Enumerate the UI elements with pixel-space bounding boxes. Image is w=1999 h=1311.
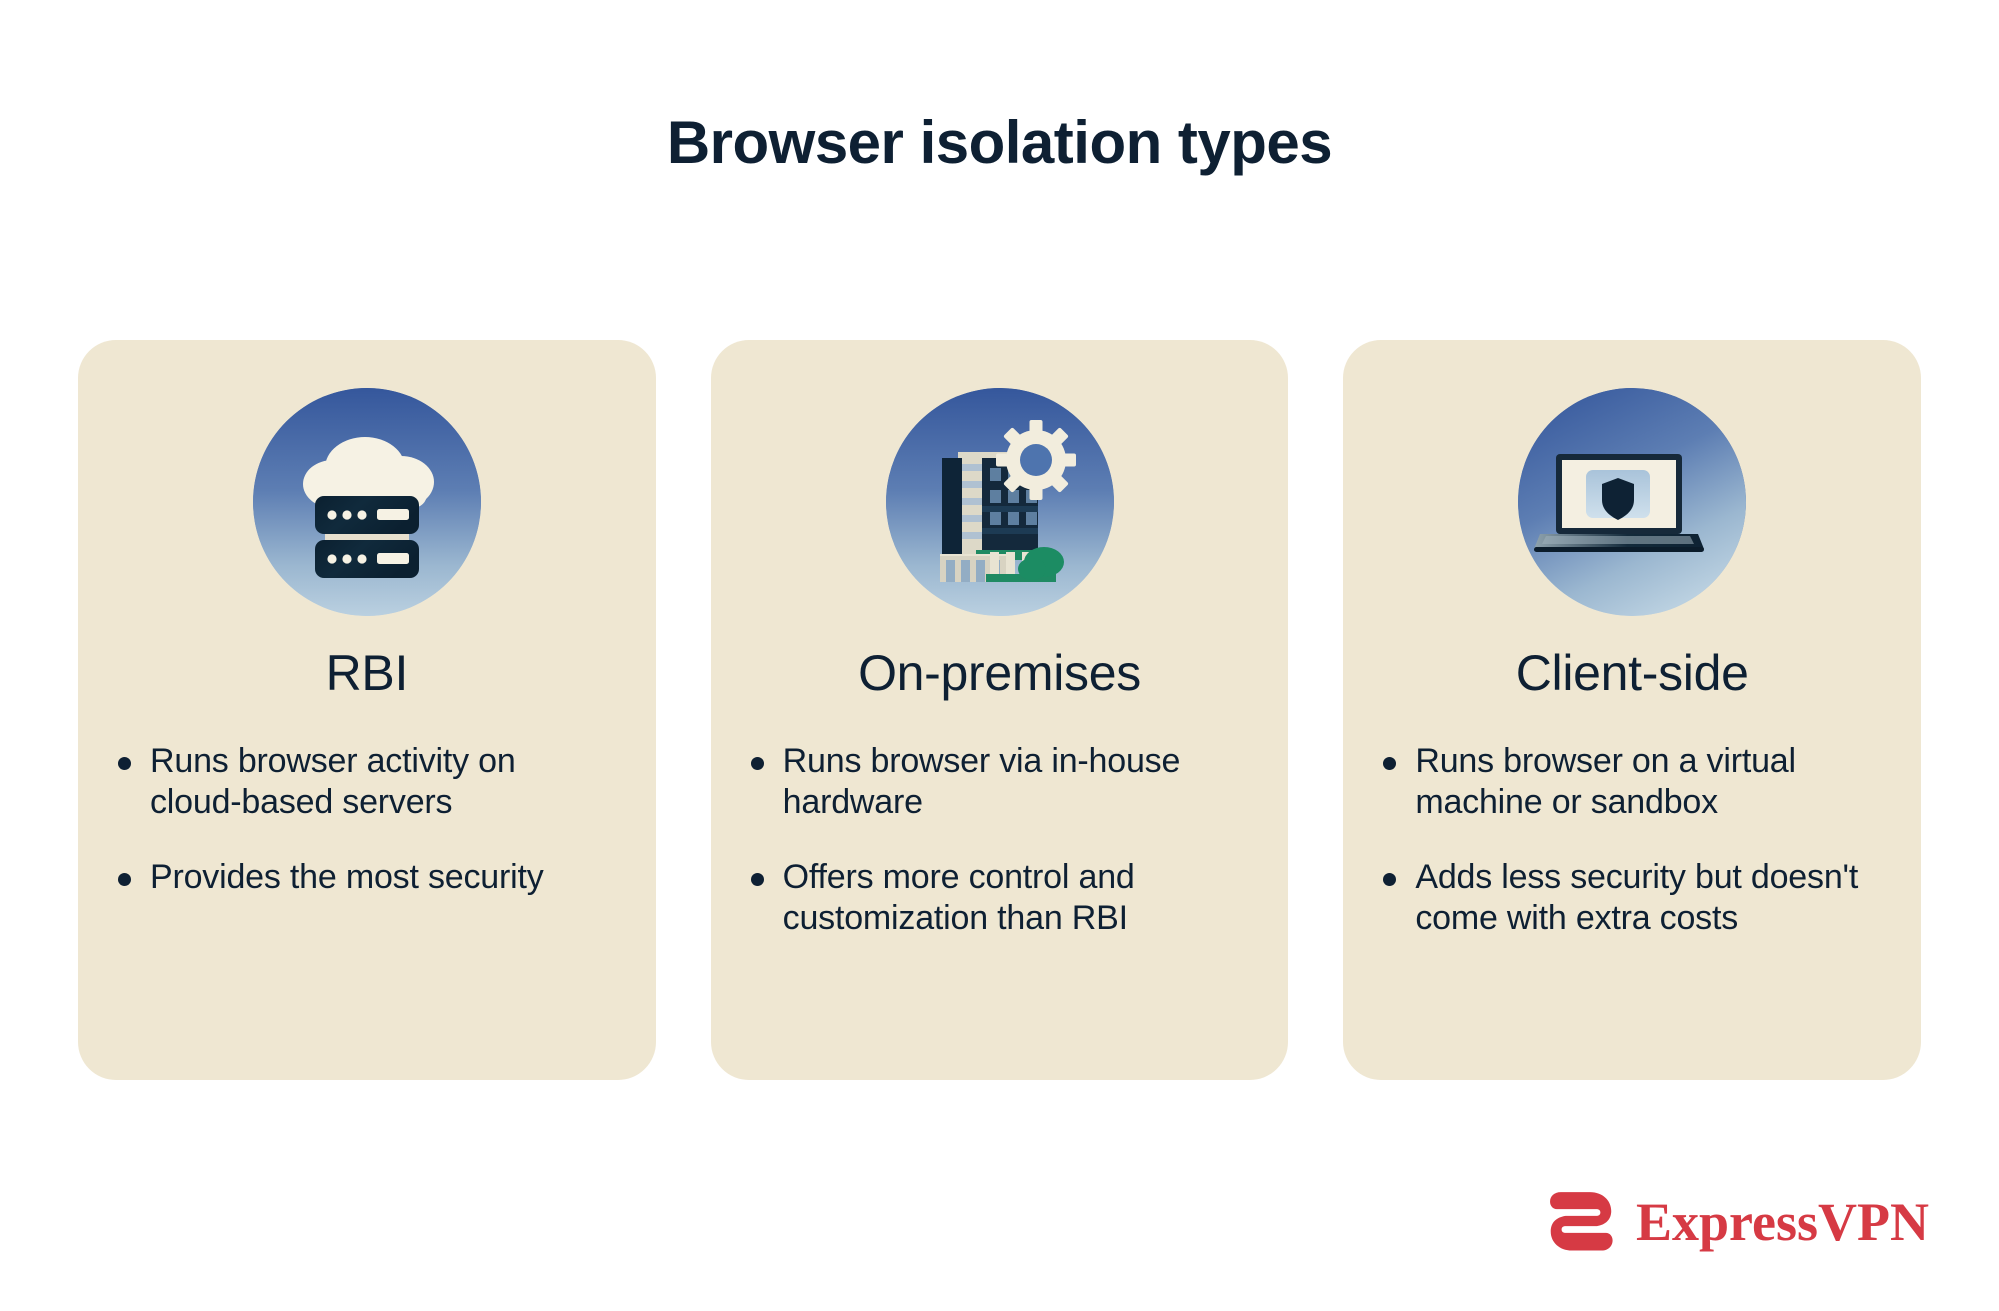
card-client-side: Client-side Runs browser on a virtual ma…: [1343, 340, 1921, 1080]
expressvpn-logo: ExpressVPN: [1548, 1188, 1929, 1256]
card-on-premises: On-premises Runs browser via in-house ha…: [711, 340, 1289, 1080]
cards-row: RBI Runs browser activity on cloud-based…: [78, 340, 1921, 1080]
bullet-dot-icon: [751, 873, 764, 886]
list-item: Offers more control and customization th…: [751, 857, 1249, 940]
list-item: Adds less security but doesn't come with…: [1383, 857, 1881, 940]
card-rbi: RBI Runs browser activity on cloud-based…: [78, 340, 656, 1080]
infographic-page: Browser isolation types: [0, 0, 1999, 1311]
bullet-text: Runs browser on a virtual machine or san…: [1415, 741, 1881, 824]
bullet-dot-icon: [118, 873, 131, 886]
list-item: Runs browser activity on cloud-based ser…: [118, 741, 616, 824]
bullet-dot-icon: [1383, 873, 1396, 886]
bullet-dot-icon: [118, 757, 131, 770]
bullet-text: Runs browser activity on cloud-based ser…: [150, 741, 616, 824]
laptop-shield-icon: [1518, 388, 1746, 616]
card-bullet-list: Runs browser via in-house hardware Offer…: [751, 741, 1249, 940]
bullet-text: Runs browser via in-house hardware: [783, 741, 1249, 824]
bullet-text: Offers more control and customization th…: [783, 857, 1249, 940]
building-gear-icon: [886, 388, 1114, 616]
expressvpn-e-mark-icon: [1548, 1188, 1616, 1256]
list-item: Runs browser on a virtual machine or san…: [1383, 741, 1881, 824]
card-heading: On-premises: [858, 646, 1141, 701]
card-heading: RBI: [326, 646, 408, 701]
cloud-server-icon: [253, 388, 481, 616]
bullet-text: Provides the most security: [150, 857, 544, 898]
bullet-dot-icon: [751, 757, 764, 770]
card-bullet-list: Runs browser on a virtual machine or san…: [1383, 741, 1881, 940]
bullet-text: Adds less security but doesn't come with…: [1415, 857, 1881, 940]
card-bullet-list: Runs browser activity on cloud-based ser…: [118, 741, 616, 898]
list-item: Provides the most security: [118, 857, 616, 898]
page-title: Browser isolation types: [0, 110, 1999, 176]
expressvpn-wordmark: ExpressVPN: [1636, 1195, 1929, 1249]
list-item: Runs browser via in-house hardware: [751, 741, 1249, 824]
bullet-dot-icon: [1383, 757, 1396, 770]
card-heading: Client-side: [1516, 646, 1749, 701]
